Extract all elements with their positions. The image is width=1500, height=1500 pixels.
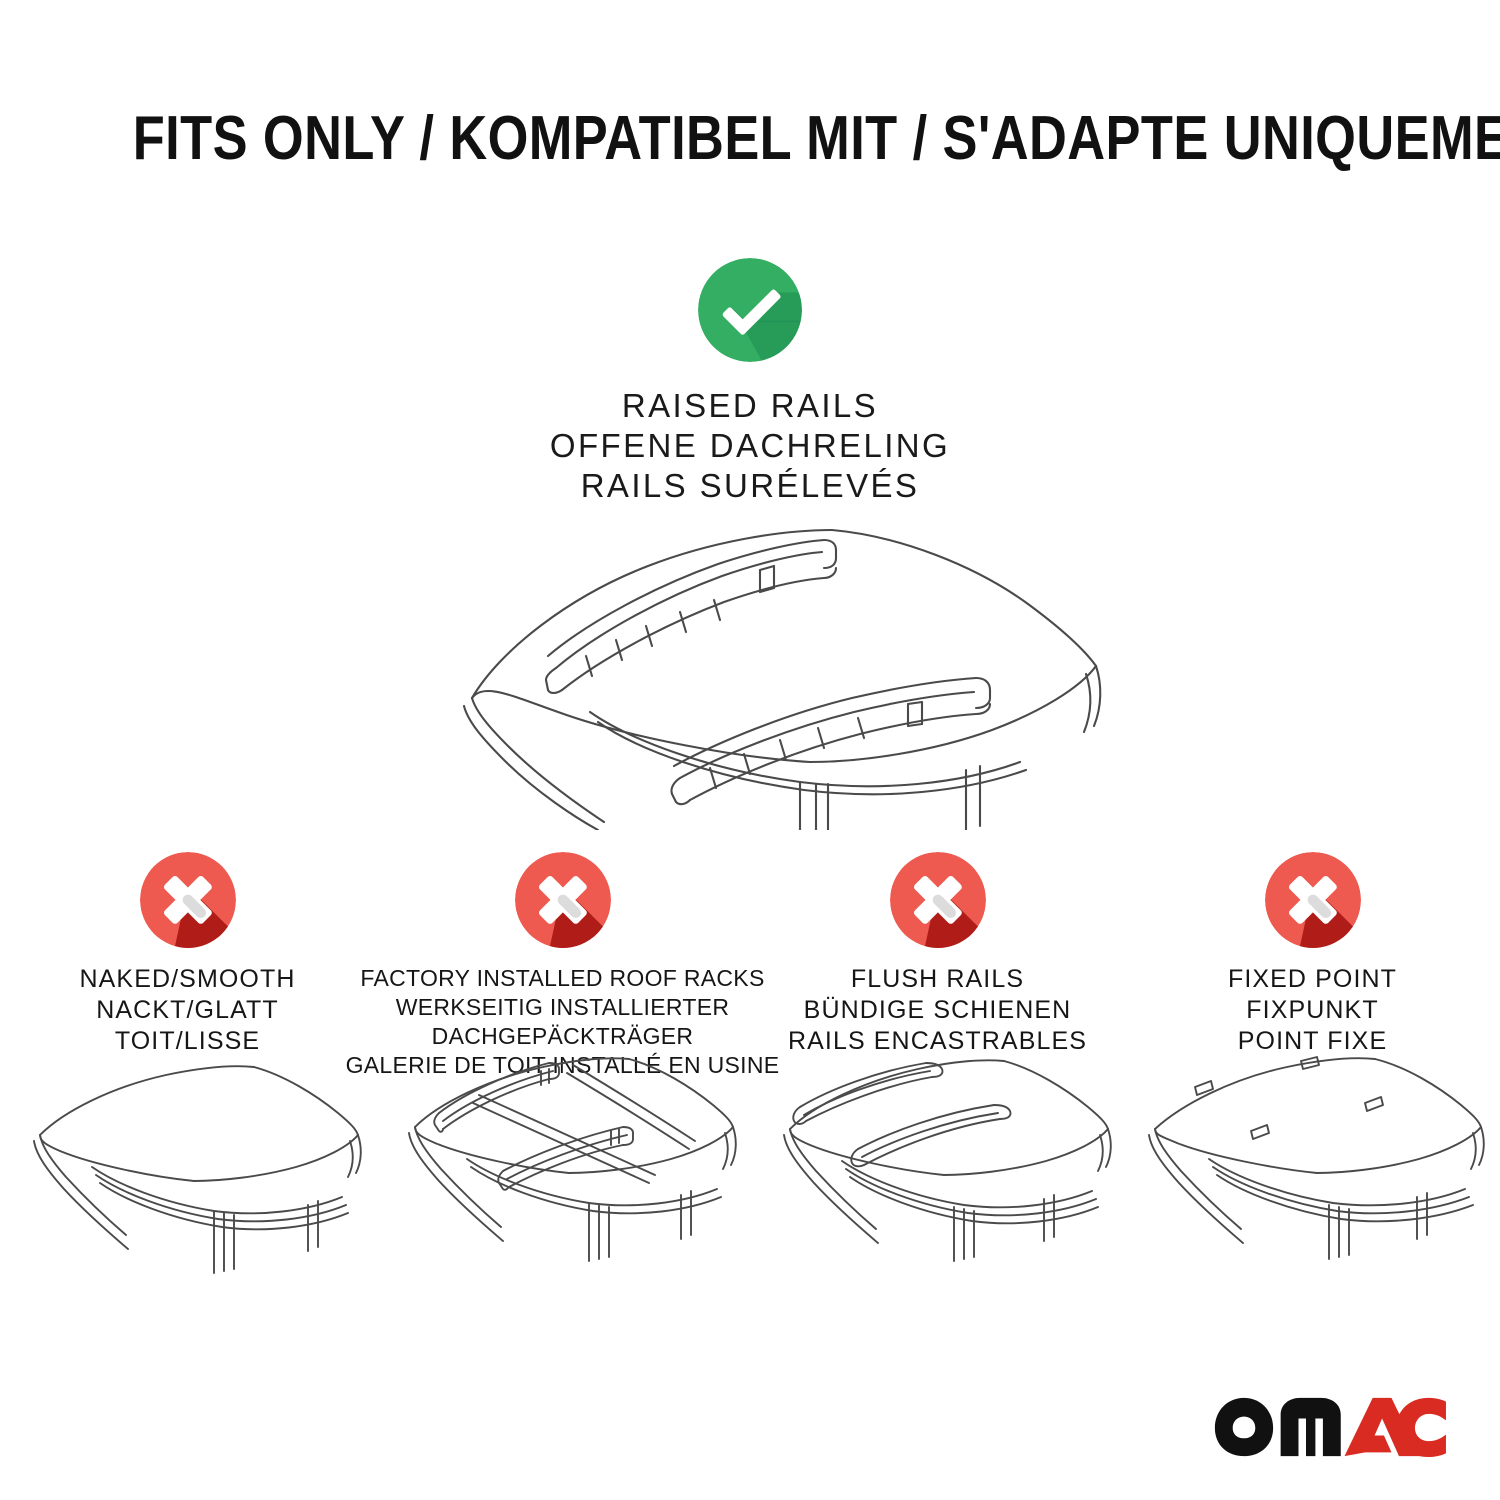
incompatible-item-fixed-point: FIXED POINT FIXPUNKT POINT FIXE: [1125, 852, 1500, 1057]
compatible-badge-holder: [0, 258, 1500, 362]
compatible-section: RAISED RAILS OFFENE DACHRELING RAILS SUR…: [0, 258, 1500, 506]
incompatible-label-de-2: DACHGEPÄCKTRÄGER: [346, 1022, 780, 1051]
incompatible-label-en: FIXED POINT: [1228, 964, 1397, 995]
incompatible-label-de: BÜNDIGE SCHIENEN: [788, 995, 1087, 1026]
car-roof-with-flush-rails-illustration: [750, 1055, 1125, 1305]
incompatible-item-factory-roof-racks: FACTORY INSTALLED ROOF RACKS WERKSEITIG …: [375, 852, 750, 1080]
omac-logo: [1213, 1396, 1448, 1458]
cross-circle-icon: [515, 852, 611, 948]
car-roof-bare-smooth-illustration: [0, 1055, 375, 1305]
incompatible-label-fr: RAILS ENCASTRABLES: [788, 1026, 1087, 1057]
fitment-compatibility-infographic: FITS ONLY / KOMPATIBEL MIT / S'ADAPTE UN…: [0, 0, 1500, 1500]
page-title: FITS ONLY / KOMPATIBEL MIT / S'ADAPTE UN…: [0, 104, 1500, 174]
compatible-label-de: OFFENE DACHRELING: [0, 426, 1500, 466]
car-roof-with-raised-rails-illustration: [380, 500, 1140, 830]
cross-circle-icon: [140, 852, 236, 948]
cross-circle-icon: [1265, 852, 1361, 948]
cross-circle-icon: [890, 852, 986, 948]
incompatible-label-fr: POINT FIXE: [1228, 1026, 1397, 1057]
incompatible-illustrations-row: [0, 1055, 1500, 1305]
car-roof-with-factory-crossbars-illustration: [375, 1055, 750, 1305]
incompatible-row: NAKED/SMOOTH NACKT/GLATT TOIT/LISSE: [0, 852, 1500, 1080]
check-circle-icon: [698, 258, 802, 362]
incompatible-labels: FIXED POINT FIXPUNKT POINT FIXE: [1228, 964, 1397, 1057]
compatible-label-en: RAISED RAILS: [0, 386, 1500, 426]
incompatible-labels: NAKED/SMOOTH NACKT/GLATT TOIT/LISSE: [80, 964, 296, 1057]
incompatible-label-de: FIXPUNKT: [1228, 995, 1397, 1026]
incompatible-item-flush-rails: FLUSH RAILS BÜNDIGE SCHIENEN RAILS ENCAS…: [750, 852, 1125, 1057]
car-roof-with-fixed-points-illustration: [1125, 1055, 1500, 1305]
compatible-labels: RAISED RAILS OFFENE DACHRELING RAILS SUR…: [0, 386, 1500, 506]
incompatible-labels: FLUSH RAILS BÜNDIGE SCHIENEN RAILS ENCAS…: [788, 964, 1087, 1057]
incompatible-item-naked-smooth: NAKED/SMOOTH NACKT/GLATT TOIT/LISSE: [0, 852, 375, 1057]
incompatible-label-en: NAKED/SMOOTH: [80, 964, 296, 995]
incompatible-label-fr: TOIT/LISSE: [80, 1026, 296, 1057]
page-title-text: FITS ONLY / KOMPATIBEL MIT / S'ADAPTE UN…: [133, 104, 1500, 174]
incompatible-label-de: NACKT/GLATT: [80, 995, 296, 1026]
incompatible-label-de-1: WERKSEITIG INSTALLIERTER: [346, 993, 780, 1022]
incompatible-label-en: FACTORY INSTALLED ROOF RACKS: [346, 964, 780, 993]
incompatible-label-en: FLUSH RAILS: [788, 964, 1087, 995]
